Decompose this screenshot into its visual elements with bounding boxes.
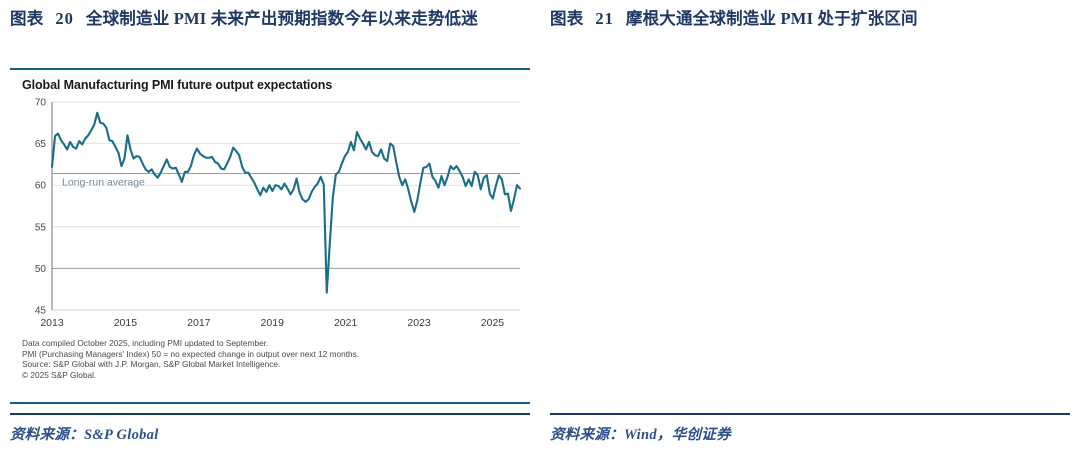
right-figure-panel: 图表21摩根大通全球制造业 PMI 处于扩张区间 摩根大通全球制造业PMI40.…: [540, 0, 1080, 452]
svg-text:2025: 2025: [481, 317, 505, 329]
left-source-divider: [10, 413, 530, 415]
left-chart-title: Global Manufacturing PMI future output e…: [22, 78, 332, 92]
left-caption-number: 20: [55, 9, 74, 28]
right-caption-number: 21: [595, 9, 614, 28]
right-figure-caption: 图表21摩根大通全球制造业 PMI 处于扩张区间: [550, 6, 1068, 31]
left-caption-title: 全球制造业 PMI 未来产出预期指数今年以来走势低迷: [86, 9, 478, 28]
right-caption-title: 摩根大通全球制造业 PMI 处于扩张区间: [626, 9, 918, 28]
svg-text:45: 45: [35, 306, 47, 317]
svg-text:Long-run average: Long-run average: [62, 177, 145, 189]
right-source-divider: [550, 413, 1070, 415]
left-chart-note-1: Data compiled October 2025, including PM…: [22, 338, 359, 349]
svg-text:2015: 2015: [114, 317, 138, 329]
svg-text:55: 55: [35, 222, 47, 233]
left-chart-svg: 455055606570Long-run average201320152017…: [10, 96, 530, 336]
right-source-text: 资料来源：Wind，华创证券: [550, 423, 731, 444]
left-chart-container: Global Manufacturing PMI future output e…: [10, 68, 530, 404]
left-source-text: 资料来源：S&P Global: [10, 423, 159, 444]
left-chart-notes: Data compiled October 2025, including PM…: [22, 338, 359, 380]
left-chart-plot: 455055606570Long-run average201320152017…: [10, 96, 530, 336]
svg-text:2013: 2013: [40, 317, 64, 329]
svg-text:50: 50: [35, 264, 47, 275]
left-chart-note-3: Source: S&P Global with J.P. Morgan, S&P…: [22, 359, 359, 370]
svg-text:2023: 2023: [407, 317, 431, 329]
svg-text:2019: 2019: [261, 317, 285, 329]
svg-text:2017: 2017: [187, 317, 211, 329]
right-caption-prefix: 图表: [550, 9, 583, 28]
svg-text:2021: 2021: [334, 317, 358, 329]
left-chart-note-2: PMI (Purchasing Managers' Index) 50 = no…: [22, 349, 359, 360]
figure-pair-page: 图表20全球制造业 PMI 未来产出预期指数今年以来走势低迷 Global Ma…: [0, 0, 1080, 452]
left-caption-prefix: 图表: [10, 9, 43, 28]
left-figure-panel: 图表20全球制造业 PMI 未来产出预期指数今年以来走势低迷 Global Ma…: [0, 0, 540, 452]
svg-text:60: 60: [35, 181, 47, 192]
svg-text:65: 65: [35, 139, 47, 150]
left-chart-note-4: © 2025 S&P Global.: [22, 370, 359, 381]
left-figure-caption: 图表20全球制造业 PMI 未来产出预期指数今年以来走势低迷: [10, 6, 528, 31]
svg-text:70: 70: [35, 98, 47, 109]
